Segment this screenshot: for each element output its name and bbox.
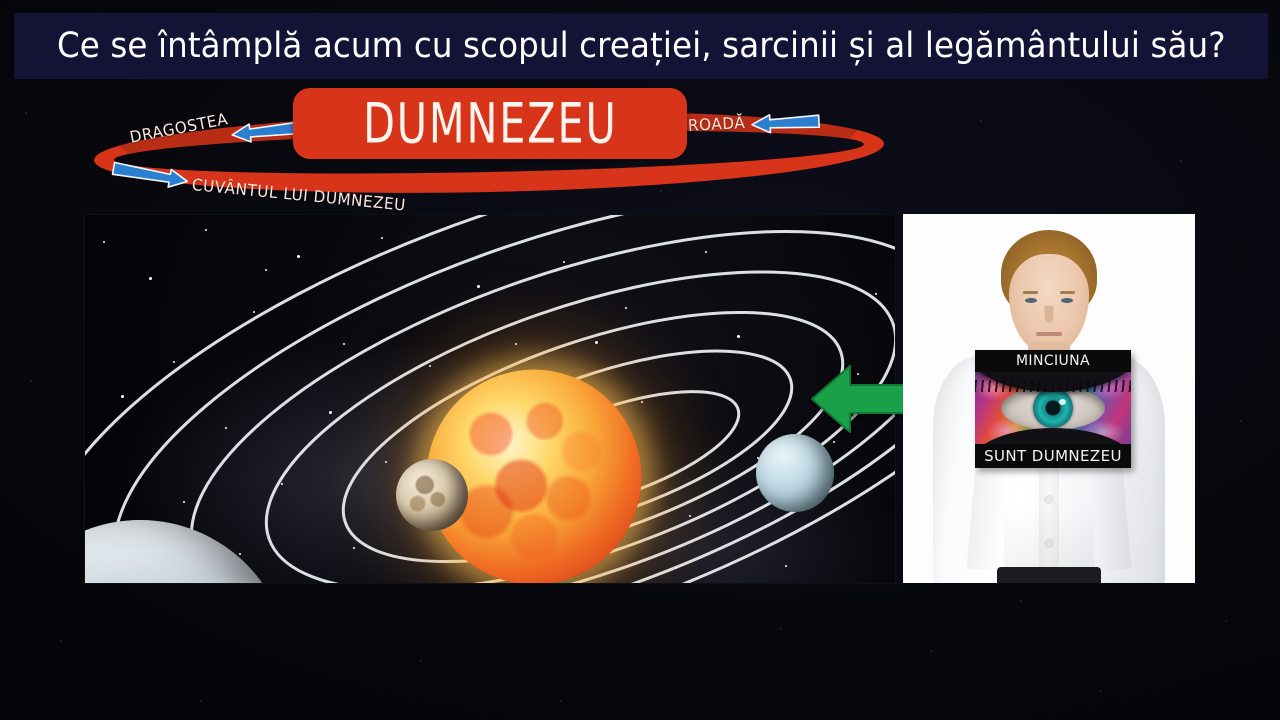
god-ring-diagram: DRAGOSTEA ROADĂ CUVÂNTUL LUI DUMNEZEU DU… [88, 84, 896, 206]
slide-title-bar: Ce se întâmplă acum cu scopul creației, … [14, 13, 1268, 79]
page-title: Ce se întâmplă acum cu scopul creației, … [57, 29, 1226, 64]
ring-label-roada: ROADĂ [688, 113, 746, 135]
solar-system-image [85, 215, 895, 583]
lie-overlay-card: MINCIUNA SUNT DUMNEZEU [975, 350, 1131, 468]
belt [997, 567, 1101, 583]
overlay-bottom-label: SUNT DUMNEZEU [975, 444, 1131, 468]
arrow-left-icon [747, 110, 822, 136]
planet-mercury [396, 459, 468, 531]
person-photo-panel: MINCIUNA SUNT DUMNEZEU [903, 214, 1195, 583]
green-arrow-left-icon [810, 362, 918, 436]
slide-canvas: Ce se întâmplă acum cu scopul creației, … [0, 0, 1280, 720]
overlay-top-label: MINCIUNA [975, 350, 1131, 372]
dumnezeu-label: DUMNEZEU [363, 91, 618, 156]
planet-uranus [756, 434, 834, 512]
face [1009, 254, 1089, 354]
dumnezeu-center-box: DUMNEZEU [293, 88, 687, 159]
painted-eye-image [975, 372, 1131, 444]
